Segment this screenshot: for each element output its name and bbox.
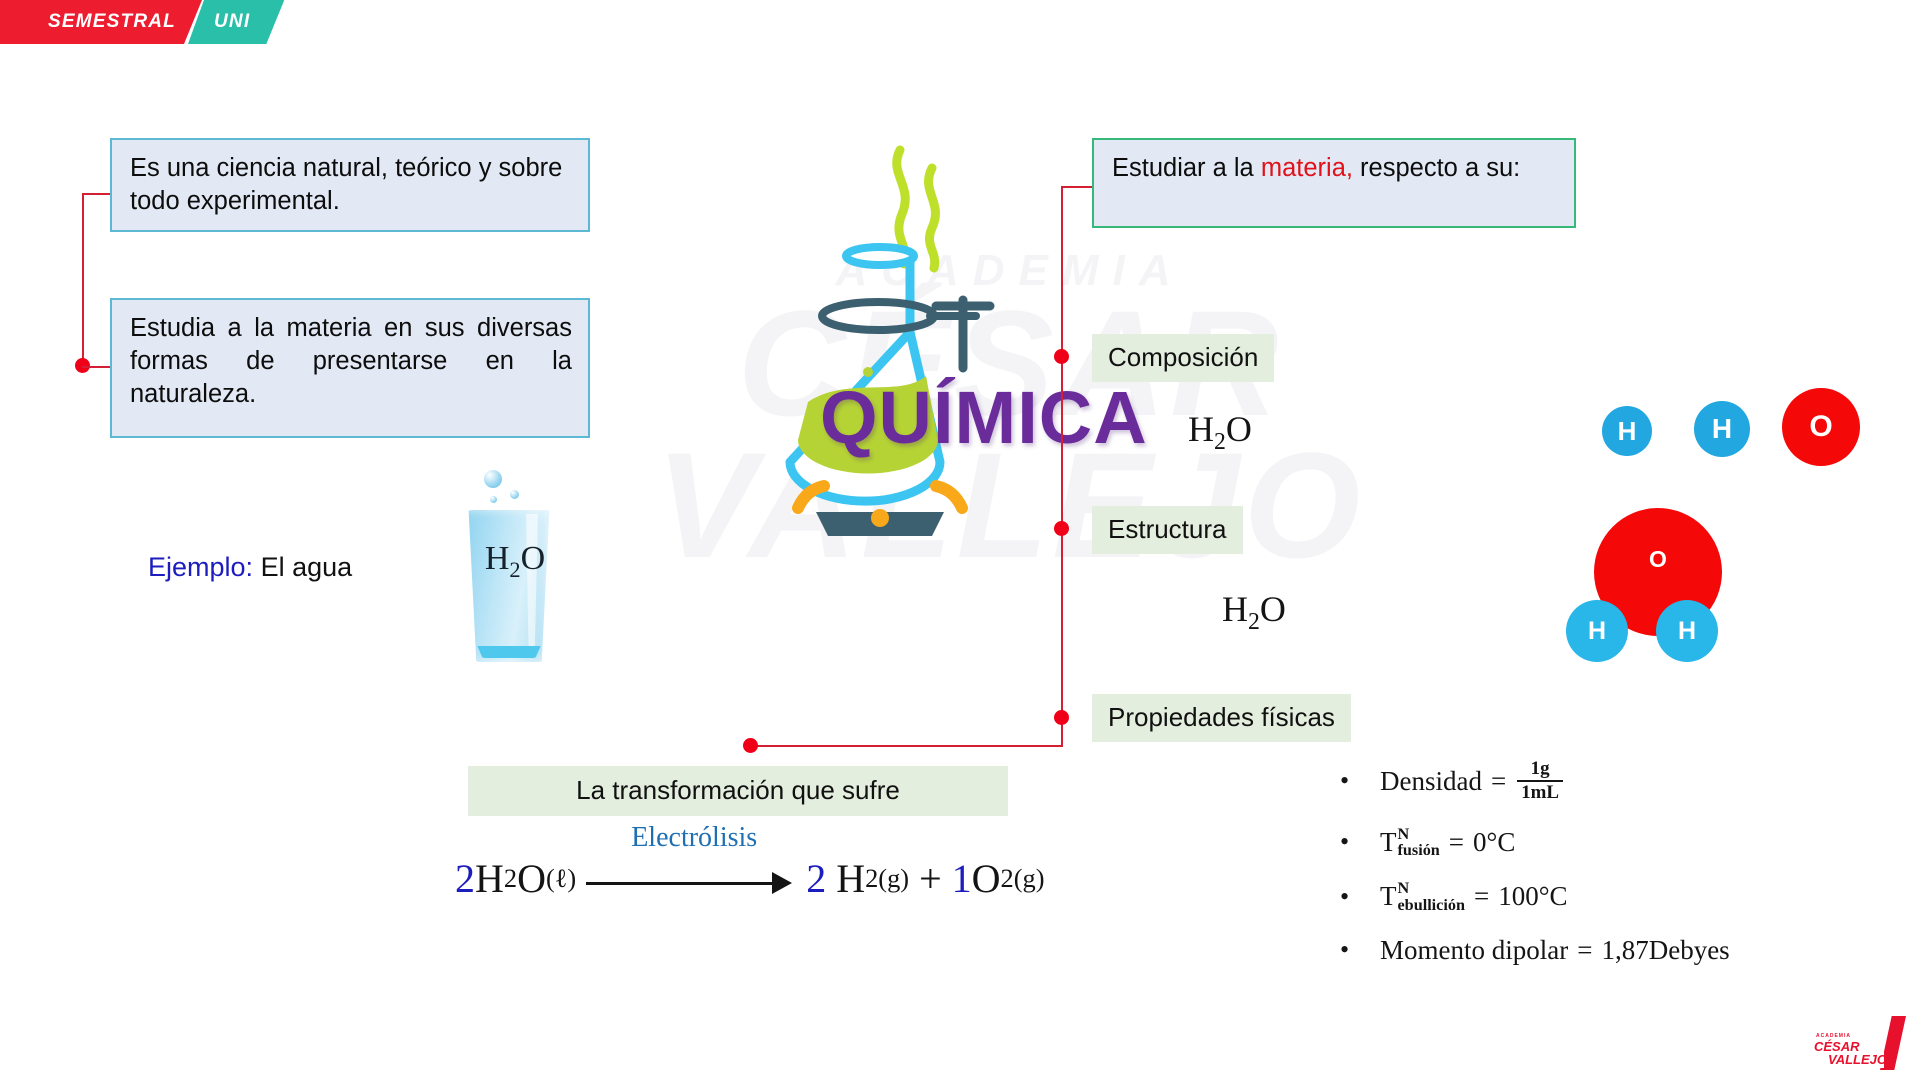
glass-formula-o: O <box>521 540 546 577</box>
reaction-arrow-label: Electrólisis <box>594 822 794 854</box>
equation-reactant-h: H <box>475 855 504 902</box>
property-densidad-fraction: 1g 1mL <box>1517 758 1563 804</box>
smoke-icon-right <box>929 168 936 268</box>
property-fusion-affixes: N fusión <box>1398 826 1440 858</box>
property-densidad-denominator: 1mL <box>1517 780 1563 804</box>
section-label-estructura: Estructura <box>1092 506 1243 554</box>
equation-coefficient-h2: 2 <box>806 855 826 902</box>
definition-box-primary-text: Es una ciencia natural, teórico y sobre … <box>130 154 562 215</box>
study-intro-box: Estudiar a la materia, respecto a su: <box>1092 138 1576 228</box>
example-text: El agua <box>261 552 353 582</box>
composicion-formula-sub: 2 <box>1214 429 1226 455</box>
glass-water-bottom <box>476 646 542 658</box>
clamp-ring-icon <box>822 302 934 330</box>
ribbon-semestral: SEMESTRAL <box>0 0 202 44</box>
estructura-formula-h: H <box>1222 589 1248 629</box>
atom-oxygen-1: O <box>1782 388 1860 466</box>
composicion-formula: H2O <box>1188 408 1252 456</box>
ribbon-semestral-label: SEMESTRAL <box>48 11 176 33</box>
connector-dot-composicion <box>1054 349 1069 364</box>
property-ebullicion-affixes: N ebullición <box>1398 880 1465 912</box>
connector-left-vertical <box>82 193 84 366</box>
equation-product-o-sub: 2(g) <box>1001 863 1045 894</box>
estructura-formula-sub: 2 <box>1248 609 1260 635</box>
study-intro-prefix: Estudiar a la <box>1112 154 1261 182</box>
atom-hydrogen-2: H <box>1694 401 1750 457</box>
glass-formula-h: H <box>485 540 510 577</box>
reaction-arrow-head-icon <box>772 872 792 894</box>
section-label-composicion-text: Composición <box>1108 342 1258 372</box>
property-densidad-operator: = <box>1491 766 1506 797</box>
equation-product-h: H <box>836 855 865 902</box>
study-intro-highlight: materia, <box>1261 154 1353 182</box>
equation-coefficient-left: 2 <box>455 855 475 902</box>
property-row-momento: • Momento dipolar = 1,87Debyes <box>1340 935 1900 966</box>
property-ebullicion-name: T <box>1380 881 1397 912</box>
definition-box-primary: Es una ciencia natural, teórico y sobre … <box>110 138 590 232</box>
section-label-propiedades-text: Propiedades físicas <box>1108 702 1335 732</box>
connector-right-spine <box>1061 186 1063 746</box>
connector-dot-propiedades <box>1054 710 1069 725</box>
property-fusion-subscript: fusión <box>1398 842 1440 858</box>
estructura-formula-o: O <box>1260 589 1286 629</box>
water-glass-illustration: H2O <box>466 510 576 690</box>
connector-left-bottom-horizontal <box>82 366 112 368</box>
atom-oxygen-1-label: O <box>1809 410 1832 444</box>
molecule-atom-hydrogen-right: H <box>1656 600 1718 662</box>
composicion-formula-o: O <box>1226 409 1252 449</box>
logo-title: QUÍMICA <box>820 375 1148 460</box>
property-fusion-operator: = <box>1449 827 1464 858</box>
bubble-icon-small <box>510 490 519 499</box>
equation-product-o: O <box>972 855 1001 902</box>
equation-plus: + <box>919 855 942 902</box>
equation-reactant-state: (ℓ) <box>546 863 576 894</box>
connector-left-top-horizontal <box>82 193 112 195</box>
property-fusion-value: 0°C <box>1473 827 1515 858</box>
property-momento-operator: = <box>1577 935 1592 966</box>
stand-cross-icon <box>936 300 990 368</box>
property-row-fusion: • T N fusión = 0°C <box>1340 826 1900 858</box>
study-intro-suffix: respecto a su: <box>1353 154 1520 182</box>
logo-name-line1: CÉSAR <box>1814 1040 1887 1053</box>
transformation-label-box: La transformación que sufre <box>468 766 1008 816</box>
estructura-formula: H2O <box>1222 588 1286 636</box>
bullet-icon-momento: • <box>1340 937 1380 963</box>
property-densidad-numerator: 1g <box>1527 758 1554 780</box>
bubble-icon-large <box>484 470 502 488</box>
brand-ribbon: SEMESTRAL UNI <box>0 0 284 44</box>
ribbon-uni: UNI <box>188 0 284 44</box>
property-momento-name: Momento dipolar <box>1380 935 1568 966</box>
property-densidad-name: Densidad <box>1380 766 1482 797</box>
bubble-icon-tiny <box>490 496 497 503</box>
bullet-icon-ebullicion: • <box>1340 884 1380 910</box>
glass-body <box>466 510 552 662</box>
glass-formula-sub: 2 <box>509 557 520 582</box>
atom-hydrogen-1-label: H <box>1618 416 1637 447</box>
property-fusion-name: T <box>1380 827 1397 858</box>
logo-text-box: ACADEMIA CÉSAR VALLEJO <box>1810 1024 1884 1068</box>
example-label: Ejemplo: <box>148 552 253 582</box>
property-row-densidad: • Densidad = 1g 1mL <box>1340 758 1900 804</box>
section-label-composicion: Composición <box>1092 334 1274 382</box>
connector-bottom-horizontal <box>750 745 1063 747</box>
property-ebullicion-subscript: ebullición <box>1398 897 1465 913</box>
chemical-equation: 2H2O(ℓ) Electrólisis 2H2(g)+1O2(g) <box>455 855 1044 902</box>
atom-hydrogen-2-label: H <box>1712 413 1732 445</box>
connector-dot-estructura <box>1054 521 1069 536</box>
logo-name-label: CÉSAR VALLEJO <box>1814 1040 1887 1067</box>
bullet-icon-fusion: • <box>1340 829 1380 855</box>
logo-name-line2: VALLEJO <box>1814 1053 1887 1066</box>
burner-knob-icon <box>871 509 889 527</box>
equation-product-h-sub: 2(g) <box>865 863 909 894</box>
equation-coefficient-o2: 1 <box>952 855 972 902</box>
molecule-atom-hydrogen-right-label: H <box>1678 617 1696 646</box>
reaction-arrow-line <box>586 882 782 885</box>
property-fusion-superscript: N <box>1398 826 1410 842</box>
atom-hydrogen-1: H <box>1602 406 1652 456</box>
properties-list: • Densidad = 1g 1mL • T N fusión = 0°C •… <box>1340 758 1900 966</box>
property-row-ebullicion: • T N ebullición = 100°C <box>1340 880 1900 912</box>
molecule-atom-hydrogen-left: H <box>1566 600 1628 662</box>
property-momento-value: 1,87Debyes <box>1601 935 1729 966</box>
reaction-arrow: Electrólisis <box>586 856 796 902</box>
composicion-formula-h: H <box>1188 409 1214 449</box>
property-ebullicion-value: 100°C <box>1498 881 1567 912</box>
connector-dot-transformation <box>743 738 758 753</box>
slide-canvas: ACADEMIA CÉSAR VALLEJO SEMESTRAL UNI Es … <box>0 0 1920 1080</box>
flask-rim <box>846 247 914 265</box>
cesar-vallejo-logo: ACADEMIA CÉSAR VALLEJO <box>1810 1016 1906 1070</box>
section-label-propiedades: Propiedades físicas <box>1092 694 1351 742</box>
example-line: Ejemplo: El agua <box>148 552 352 583</box>
property-ebullicion-superscript: N <box>1398 880 1410 896</box>
molecule-atom-oxygen-label: O <box>1649 546 1667 573</box>
bullet-icon-densidad: • <box>1340 768 1380 794</box>
equation-reactant-h-sub: 2 <box>504 863 517 894</box>
burner-flame-right <box>936 486 962 508</box>
ribbon-uni-label: UNI <box>214 11 250 33</box>
equation-reactant-o: O <box>517 855 546 902</box>
definition-box-secondary: Estudia a la materia en sus diversas for… <box>110 298 590 438</box>
definition-box-secondary-text: Estudia a la materia en sus diversas for… <box>130 314 572 408</box>
transformation-label-text: La transformación que sufre <box>576 775 900 805</box>
property-ebullicion-operator: = <box>1474 881 1489 912</box>
glass-formula: H2O <box>472 540 558 583</box>
molecule-atom-hydrogen-left-label: H <box>1588 617 1606 646</box>
section-label-estructura-text: Estructura <box>1108 514 1227 544</box>
